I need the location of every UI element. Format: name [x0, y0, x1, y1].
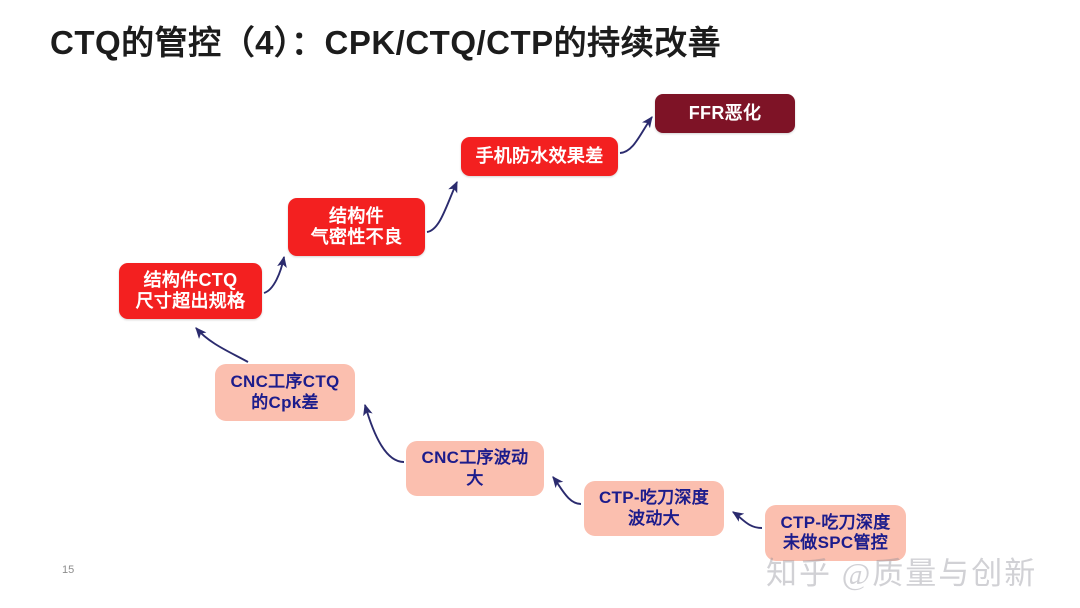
- node-ffr-line-1: FFR恶化: [689, 103, 762, 124]
- node-waterproof[interactable]: 手机防水效果差: [461, 137, 618, 176]
- node-ctp-spc-line-1: CTP-吃刀深度: [780, 513, 890, 533]
- node-ctp-wave[interactable]: CTP-吃刀深度 波动大: [584, 481, 724, 536]
- arrow-cnc-cpk-to-ctq-size: [196, 328, 248, 362]
- arrow-ctp-wave-to-cnc-wave: [553, 477, 581, 504]
- node-cnc-cpk-line-2: 的Cpk差: [251, 393, 319, 413]
- node-cnc-wave-line-1: CNC工序波动: [422, 448, 529, 468]
- page-number: 15: [62, 564, 74, 576]
- node-ctp-wave-line-2: 波动大: [628, 509, 680, 529]
- node-cnc-cpk-line-1: CNC工序CTQ: [230, 372, 339, 392]
- arrow-ctq-size-to-airtight: [264, 257, 284, 293]
- node-airtight-line-2: 气密性不良: [311, 227, 403, 248]
- arrow-cnc-wave-to-cnc-cpk: [365, 405, 404, 462]
- node-cnc-wave[interactable]: CNC工序波动 大: [406, 441, 544, 496]
- node-ctp-spc[interactable]: CTP-吃刀深度 未做SPC管控: [765, 505, 906, 561]
- node-airtight[interactable]: 结构件 气密性不良: [288, 198, 425, 256]
- node-ffr[interactable]: FFR恶化: [655, 94, 795, 133]
- node-ctp-wave-line-1: CTP-吃刀深度: [599, 488, 709, 508]
- arrow-ctp-spc-to-ctp-wave: [733, 512, 762, 528]
- arrow-waterproof-to-ffr: [620, 117, 652, 153]
- node-ctp-spc-line-2: 未做SPC管控: [783, 533, 888, 553]
- node-cnc-cpk[interactable]: CNC工序CTQ 的Cpk差: [215, 364, 355, 421]
- node-ctq-size-line-2: 尺寸超出规格: [136, 291, 246, 312]
- node-waterproof-line-1: 手机防水效果差: [475, 146, 603, 167]
- node-airtight-line-1: 结构件: [329, 206, 384, 227]
- node-cnc-wave-line-2: 大: [466, 469, 483, 489]
- arrow-airtight-to-waterproof: [427, 182, 457, 232]
- node-ctq-size-line-1: 结构件CTQ: [144, 270, 238, 291]
- node-ctq-size[interactable]: 结构件CTQ 尺寸超出规格: [119, 263, 262, 319]
- slide-canvas: CTQ的管控（4）：CPK/CTQ/CTP的持续改善 FFR恶化 手机防水效果差…: [0, 0, 1080, 608]
